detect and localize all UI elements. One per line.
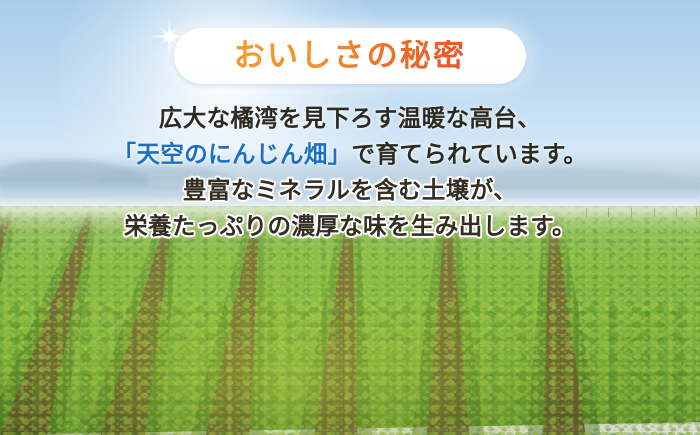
copy-line-1: 広大な橘湾を見下ろす温暖な高台、 xyxy=(0,100,700,136)
page-title: おいしさの秘密 xyxy=(234,40,466,73)
title-pill: おいしさの秘密 xyxy=(174,28,526,84)
copy-line-4: 栄養たっぷりの濃厚な味を生み出します。 xyxy=(0,208,700,244)
body-copy: 広大な橘湾を見下ろす温暖な高台、 「天空のにんじん畑」で育てられています。 豊富… xyxy=(0,100,700,244)
copy-line-2: 「天空のにんじん畑」で育てられています。 xyxy=(0,136,700,172)
copy-text: 栄養たっぷりの濃厚な味を生み出します。 xyxy=(124,213,576,239)
copy-text-highlight: 「天空のにんじん畑」 xyxy=(113,141,352,167)
copy-text: 豊富なミネラルを含む土壌が、 xyxy=(183,177,517,203)
oishisa-no-himitsu-banner: おいしさの秘密 広大な橘湾を見下ろす温暖な高台、 「天空のにんじん畑」で育てられ… xyxy=(0,0,700,435)
copy-text: で育てられています。 xyxy=(352,141,588,167)
copy-line-3: 豊富なミネラルを含む土壌が、 xyxy=(0,172,700,208)
copy-text: 広大な橘湾を見下ろす温暖な高台、 xyxy=(159,105,541,131)
